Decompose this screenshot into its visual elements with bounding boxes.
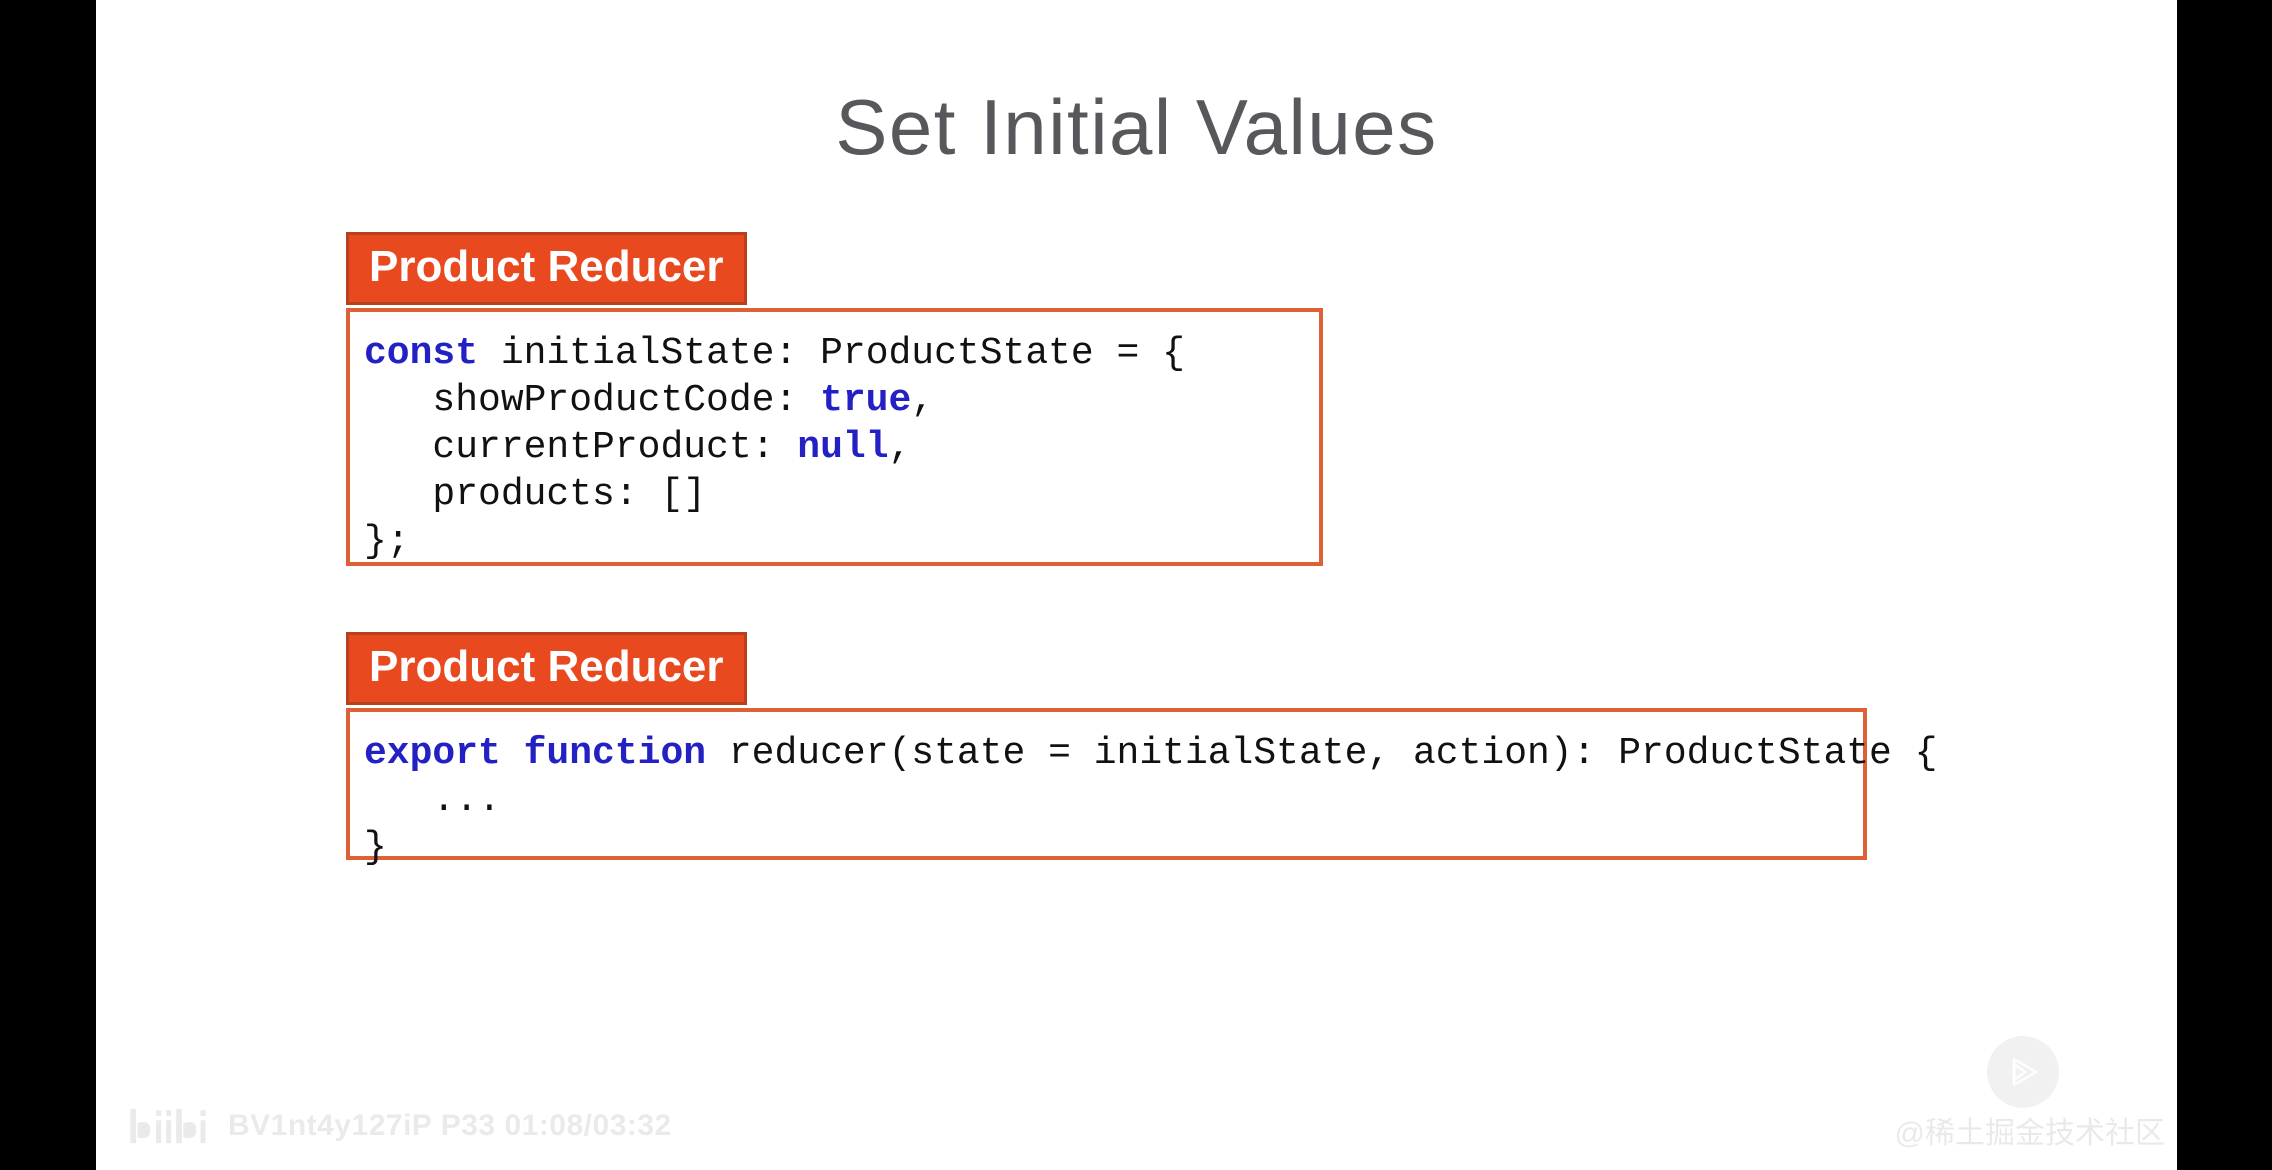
code-token: const — [364, 332, 478, 375]
video-player-frame: Set Initial Values Product Reducer const… — [0, 0, 2272, 1170]
code-token: reducer(state = initialState, action): P… — [706, 732, 1937, 775]
code-token: }; — [364, 520, 410, 563]
code-token: ... — [364, 779, 501, 822]
code-line: currentProduct: null, — [364, 424, 1319, 471]
code-line: const initialState: ProductState = { — [364, 330, 1319, 377]
code-line: products: [] — [364, 471, 1319, 518]
code-line: export function reducer(state = initialS… — [364, 730, 1863, 777]
code-token: null — [797, 426, 888, 469]
code-line: }; — [364, 518, 1319, 565]
code-token: , — [911, 379, 934, 422]
code-token: , — [889, 426, 912, 469]
code-token: products: [] — [364, 473, 706, 516]
bilibili-video-id-label: BV1nt4y127iP P33 01:08/03:32 — [228, 1109, 672, 1143]
code-block: export function reducer(state = initialS… — [346, 708, 1867, 860]
panel-tab-label: Product Reducer — [346, 632, 747, 705]
play-triangle-icon — [2001, 1050, 2045, 1094]
juejin-watermark-label: @稀土掘金技术社区 — [1895, 1108, 2165, 1152]
code-token: true — [820, 379, 911, 422]
code-token: currentProduct: — [364, 426, 797, 469]
play-button-icon[interactable] — [1987, 1036, 2059, 1108]
code-token: } — [364, 826, 387, 869]
panel-tab-label: Product Reducer — [346, 232, 747, 305]
presentation-slide: Set Initial Values Product Reducer const… — [96, 0, 2177, 1170]
code-token: initialState: ProductState = { — [478, 332, 1185, 375]
bilibili-watermark: BV1nt4y127iP P33 01:08/03:32 — [126, 1104, 672, 1148]
code-token: export function — [364, 732, 706, 775]
bilibili-logo-icon — [126, 1104, 212, 1148]
code-line: } — [364, 824, 1863, 871]
code-line: showProductCode: true, — [364, 377, 1319, 424]
code-line: ... — [364, 777, 1863, 824]
code-token: showProductCode: — [364, 379, 820, 422]
page-title: Set Initial Values — [96, 82, 2177, 173]
code-block: const initialState: ProductState = { sho… — [346, 308, 1323, 566]
